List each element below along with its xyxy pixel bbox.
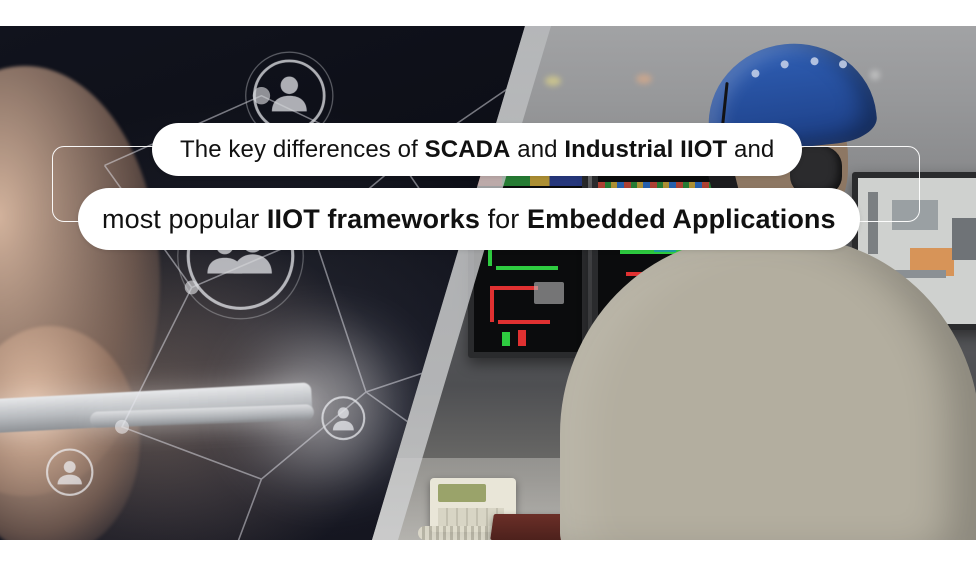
ceiling-lamp-icon: [636, 74, 652, 84]
banner-stage: The key differences of SCADA and Industr…: [0, 0, 976, 569]
person-icon: [322, 397, 364, 439]
headline-seg-5: and: [727, 136, 774, 163]
headline-pill-line1: The key differences of SCADA and Industr…: [152, 123, 802, 176]
headline-line2-text: most popular IIOT frameworks for Embedde…: [102, 204, 836, 235]
headline-line1-text: The key differences of SCADA and Industr…: [180, 136, 774, 164]
headline-seg-6: most popular: [102, 204, 267, 234]
headline-seg-scada: SCADA: [425, 136, 511, 163]
headline-seg-3: and: [511, 136, 565, 163]
headline-pill-line2: most popular IIOT frameworks for Embedde…: [78, 188, 860, 250]
headline-seg-8: for: [480, 204, 527, 234]
headline-seg-embedded-applications: Embedded Applications: [527, 204, 836, 234]
ceiling-lamp-icon: [545, 76, 561, 86]
helmet-vent-dot: [810, 57, 819, 66]
helmet-vent-dot: [780, 60, 789, 69]
person-icon: [47, 450, 92, 495]
ceiling-lamp-icon: [870, 70, 880, 80]
hero-banner: [0, 26, 976, 540]
headline-seg-industrial-iiot: Industrial IIOT: [564, 136, 727, 163]
helmet-vent-dot: [751, 69, 760, 78]
helmet-vent-dot: [839, 60, 848, 69]
headline-seg-iiot-frameworks: IIOT frameworks: [267, 204, 480, 234]
headline-seg-1: The key differences of: [180, 136, 425, 163]
